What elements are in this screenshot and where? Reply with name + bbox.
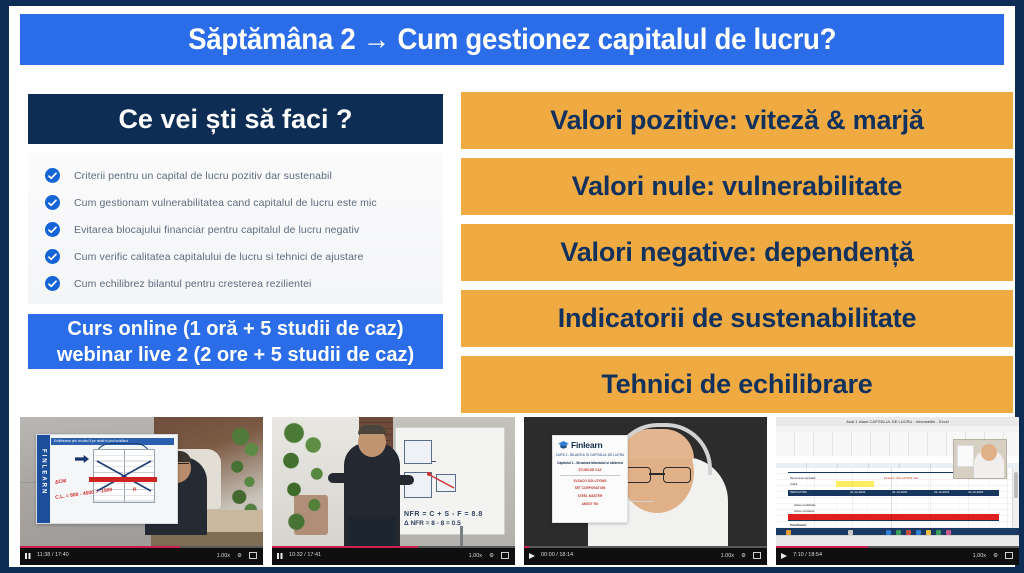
topic-bar-3: Valori negative: dependență	[461, 224, 1013, 281]
slide-card: FINLEARN Echilibrarea prin circuitul 8 p…	[36, 434, 178, 524]
topic-bar-2: Valori nule: vulnerabilitate	[461, 158, 1013, 215]
fullscreen-icon[interactable]	[753, 552, 761, 559]
presenter-legs	[348, 517, 396, 546]
settings-icon[interactable]: ⚙	[993, 553, 998, 559]
glasses-bridge	[649, 473, 665, 475]
board-equation-2: Δ NFR = 8 - 8 = 0.5	[404, 520, 461, 527]
plant-decor	[276, 421, 336, 541]
fullscreen-icon[interactable]	[1005, 552, 1013, 559]
fullscreen-icon[interactable]	[249, 552, 257, 559]
list-item: Cum echilibrez bilantul pentru cresterea…	[28, 270, 443, 297]
brand-label: Finlearn	[571, 440, 602, 450]
plant-decor	[227, 417, 261, 525]
excel-status-bar	[776, 535, 1019, 546]
course-format-line-1: Curs online (1 oră + 5 studii de caz)	[67, 316, 403, 342]
check-circle-icon	[45, 276, 60, 291]
graduation-cap-icon	[558, 441, 569, 450]
board-box-1	[404, 440, 432, 464]
taskbar-icon[interactable]	[906, 530, 911, 535]
brand-sidebar: FINLEARN	[37, 435, 50, 523]
video-controls-right[interactable]: 1.00x ⚙	[721, 552, 761, 559]
video-thumbnail-3[interactable]: Finlearn CURS 2 - BILANTUL SI CAPITALUL …	[524, 417, 767, 565]
section-label: STUDII DE CAZ	[553, 468, 627, 473]
video-control-bar-4[interactable]: 7:10 / 18:54 1.00x ⚙	[776, 546, 1019, 565]
progress-fill[interactable]	[776, 546, 868, 548]
taskbar-icon[interactable]	[786, 530, 791, 535]
topic-bar-label: Valori nule: vulnerabilitate	[572, 171, 903, 202]
checklist: Criterii pentru un capital de lucru pozi…	[28, 153, 443, 304]
board-arrow-icon	[426, 470, 458, 492]
left-column: Ce vei ști să faci ? Criterii pentru un …	[28, 94, 443, 369]
progress-fill[interactable]	[272, 546, 418, 548]
video-frame-4: Anal 1 bilant CAPITALUL DE LUCRU - Infor…	[776, 417, 1019, 546]
taskbar-icon[interactable]	[896, 530, 901, 535]
red-highlight-band	[89, 477, 157, 482]
play-icon[interactable]	[529, 553, 535, 559]
checklist-label: Criterii pentru un capital de lucru pozi…	[74, 170, 332, 182]
left-heading-box: Ce vei ști să faci ?	[28, 94, 443, 144]
pause-icon[interactable]	[277, 553, 283, 559]
divider	[560, 475, 620, 476]
slide-frame: Săptămâna 2 → Cum gestionez capitalul de…	[0, 0, 1024, 573]
topic-bar-5: Tehnici de echilibrare	[461, 356, 1013, 413]
presenter-head	[981, 444, 997, 461]
check-circle-icon	[45, 168, 60, 183]
playback-speed-label[interactable]: 1.00x	[217, 553, 230, 559]
pause-icon[interactable]	[25, 553, 31, 559]
checklist-label: Cum echilibrez bilantul pentru cresterea…	[74, 278, 311, 290]
course-format-line-2: webinar live 2 (2 ore + 5 studii de caz)	[57, 342, 414, 368]
video-frame-2: NFR = C + S - F = 8.8 Δ NFR = 8 - 8 = 0.…	[272, 417, 515, 546]
video-controls-right[interactable]: 1.00x ⚙	[469, 552, 509, 559]
handwriting-mark-2: R	[133, 487, 137, 493]
topic-bar-1: Valori pozitive: viteză & marjă	[461, 92, 1013, 149]
video-control-bar-3[interactable]: 00:00 / 18:14 1.00x ⚙	[524, 546, 767, 565]
right-column: Valori pozitive: viteză & marjă Valori n…	[461, 92, 1013, 422]
course-format-box: Curs online (1 oră + 5 studii de caz) we…	[28, 314, 443, 369]
checklist-label: Cum gestionam vulnerabilitatea cand capi…	[74, 197, 377, 209]
checklist-label: Cum verific calitatea capitalului de luc…	[74, 251, 364, 263]
video-timestamp: 11:38 / 17:40	[37, 552, 69, 558]
list-item: Cum gestionam vulnerabilitatea cand capi…	[28, 189, 443, 216]
webcam-slide-card	[957, 445, 974, 467]
presenter-hair	[358, 425, 386, 434]
course-label: CURS 2 - BILANTUL SI CAPITALUL DE LUCRU	[553, 453, 627, 458]
playback-speed-label[interactable]: 1.00x	[973, 553, 986, 559]
chapter-label: Capitolul 1 - Structura bilantului si al…	[553, 461, 627, 466]
topic-bar-label: Indicatorii de sustenabilitate	[558, 303, 917, 334]
topic-bar-label: Tehnici de echilibrare	[601, 369, 872, 400]
taskbar-icon[interactable]	[916, 530, 921, 535]
playback-speed-label[interactable]: 1.00x	[469, 553, 482, 559]
check-circle-icon	[45, 222, 60, 237]
video-timestamp: 7:10 / 18:54	[793, 552, 822, 558]
finlearn-slide-card: Finlearn CURS 2 - BILANTUL SI CAPITALUL …	[552, 435, 628, 523]
webcam-overlay	[953, 439, 1007, 479]
taskbar-icon[interactable]	[848, 530, 853, 535]
settings-icon[interactable]: ⚙	[741, 553, 746, 559]
glasses-lens-right	[663, 467, 691, 483]
header-banner: Săptămâna 2 → Cum gestionez capitalul de…	[20, 14, 1004, 65]
list-item: Evitarea blocajului financiar pentru cap…	[28, 216, 443, 243]
video-controls-right[interactable]: 1.00x ⚙	[973, 552, 1013, 559]
case-label: SET CORPORATION	[553, 486, 627, 491]
video-controls-right[interactable]: 1.00x ⚙	[217, 552, 257, 559]
play-icon[interactable]	[781, 553, 787, 559]
check-circle-icon	[45, 249, 60, 264]
case-label: ELSACO SOLUTIONS	[553, 479, 627, 484]
video-thumbnail-1[interactable]: FINLEARN Echilibrarea prin circuitul 8 p…	[20, 417, 263, 565]
glasses-icon	[623, 467, 691, 481]
presenter-arm-left	[328, 473, 358, 483]
video-thumbnail-strip: FINLEARN Echilibrarea prin circuitul 8 p…	[20, 417, 1004, 565]
video-control-bar-2[interactable]: 10:32 / 17:41 1.00x ⚙	[272, 546, 515, 565]
video-thumbnail-2[interactable]: NFR = C + S - F = 8.8 Δ NFR = 8 - 8 = 0.…	[272, 417, 515, 565]
handwriting-mark-1: ΔCM	[55, 478, 67, 486]
excel-window-title: Anal 1 bilant CAPITALUL DE LUCRU - Infor…	[846, 419, 948, 424]
list-item: Criterii pentru un capital de lucru pozi…	[28, 162, 443, 189]
slide-canvas: Săptămâna 2 → Cum gestionez capitalul de…	[9, 6, 1015, 567]
video-timestamp: 00:00 / 18:14	[541, 552, 573, 558]
playback-speed-label[interactable]: 1.00x	[721, 553, 734, 559]
taskbar-icon[interactable]	[946, 530, 951, 535]
case-label: ANSGT RO	[553, 502, 627, 507]
video-frame-3: Finlearn CURS 2 - BILANTUL SI CAPITALUL …	[524, 417, 767, 546]
flipchart-leg	[460, 526, 463, 546]
fullscreen-icon[interactable]	[501, 552, 509, 559]
presenter-arm-right	[388, 475, 414, 485]
topic-bar-label: Valori negative: dependență	[560, 237, 913, 268]
video-frame-1: FINLEARN Echilibrarea prin circuitul 8 p…	[20, 417, 263, 546]
list-item: Cum verific calitatea capitalului de luc…	[28, 243, 443, 270]
taskbar-icon[interactable]	[936, 530, 941, 535]
settings-icon[interactable]: ⚙	[237, 553, 242, 559]
taskbar-icon[interactable]	[926, 530, 931, 535]
page-title: Săptămâna 2 → Cum gestionez capitalul de…	[188, 23, 836, 57]
board-equation-1: NFR = C + S - F = 8.8	[404, 511, 483, 518]
topic-bar-4: Indicatorii de sustenabilitate	[461, 290, 1013, 347]
brand-label: FINLEARN	[41, 449, 47, 495]
taskbar-icon[interactable]	[886, 530, 891, 535]
excel-window: Anal 1 bilant CAPITALUL DE LUCRU - Infor…	[776, 417, 1019, 546]
settings-icon[interactable]: ⚙	[489, 553, 494, 559]
case-label: STEEL MASTER	[553, 494, 627, 499]
progress-track[interactable]	[524, 546, 767, 548]
check-circle-icon	[45, 195, 60, 210]
scrollbar-thumb[interactable]	[1014, 472, 1018, 498]
progress-fill[interactable]	[20, 546, 180, 548]
excel-scrollbar[interactable]	[1012, 468, 1019, 528]
left-heading-label: Ce vei ști să faci ?	[118, 104, 352, 135]
topic-bar-label: Valori pozitive: viteză & marjă	[550, 105, 923, 136]
progress-fill[interactable]	[524, 546, 529, 548]
checklist-label: Evitarea blocajului financiar pentru cap…	[74, 224, 359, 236]
video-timestamp: 10:32 / 17:41	[289, 552, 321, 558]
video-thumbnail-4[interactable]: Anal 1 bilant CAPITALUL DE LUCRU - Infor…	[776, 417, 1019, 565]
video-control-bar-1[interactable]: 11:38 / 17:40 1.00x ⚙	[20, 546, 263, 565]
arrow-icon	[75, 455, 89, 463]
finlearn-logo: Finlearn	[558, 440, 627, 450]
